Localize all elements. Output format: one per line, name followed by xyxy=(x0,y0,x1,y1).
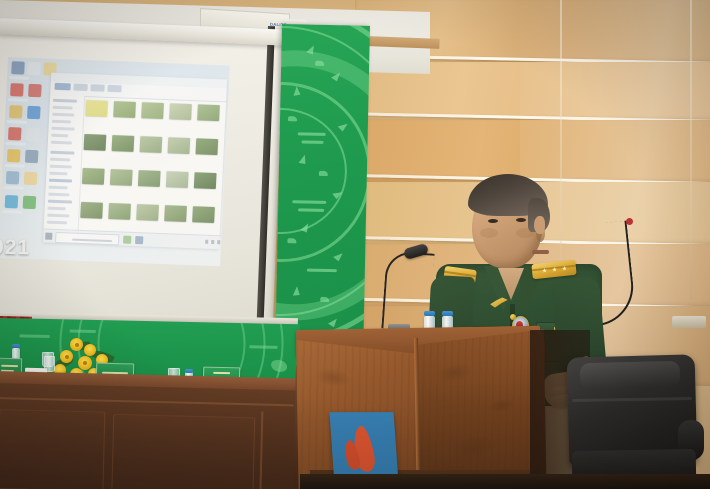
floor-shadow xyxy=(300,474,710,489)
recycle-bin-icon[interactable] xyxy=(11,61,25,74)
thumbnail-item[interactable] xyxy=(164,205,187,222)
deer-motif xyxy=(320,297,329,302)
nav-item[interactable] xyxy=(51,134,68,138)
start-button[interactable] xyxy=(45,233,52,240)
mouth xyxy=(532,250,549,254)
wall-panel xyxy=(355,120,710,182)
this-pc-icon[interactable] xyxy=(27,62,41,75)
icon-label xyxy=(5,164,25,168)
nav-item[interactable] xyxy=(50,158,70,162)
thumbnail-item[interactable] xyxy=(192,206,215,223)
icon-label xyxy=(8,98,28,102)
drum-ring xyxy=(275,24,370,356)
nav-item[interactable] xyxy=(47,214,69,218)
word-icon[interactable] xyxy=(26,128,40,141)
icon-label xyxy=(6,142,26,146)
table-groove xyxy=(0,397,294,406)
ornament xyxy=(302,140,324,143)
thumbnail-item[interactable] xyxy=(82,168,105,185)
foxit-reader-icon[interactable] xyxy=(28,84,42,97)
icon-label xyxy=(2,210,22,214)
thumbnail-item[interactable] xyxy=(85,100,108,117)
thumbnail-grid[interactable] xyxy=(79,100,224,245)
skype-icon[interactable] xyxy=(5,195,19,208)
nav-item-selected[interactable] xyxy=(49,179,72,183)
thumbnail-item[interactable] xyxy=(194,172,217,189)
tray-icon[interactable] xyxy=(211,240,214,244)
icon-label xyxy=(4,186,24,190)
bird-motif xyxy=(292,286,300,296)
flower-center xyxy=(65,355,69,359)
eye xyxy=(488,219,498,223)
nav-item[interactable] xyxy=(47,221,67,225)
wood-grain xyxy=(416,329,546,489)
nav-item[interactable] xyxy=(49,172,67,176)
thumbnail-item[interactable] xyxy=(195,138,218,155)
icon-label xyxy=(9,76,29,80)
dong-son-drum-banner xyxy=(275,24,370,356)
nameplate-line xyxy=(213,372,231,374)
deer-motif xyxy=(287,238,296,243)
nav-item[interactable] xyxy=(52,120,71,124)
thumbnail-item[interactable] xyxy=(138,170,161,187)
thumbnail-item[interactable] xyxy=(113,101,136,118)
tray-icon[interactable] xyxy=(217,240,220,244)
bird-motif xyxy=(292,86,301,96)
tray-icon[interactable] xyxy=(205,240,208,244)
flower-center xyxy=(83,361,87,365)
pdf-icon[interactable] xyxy=(8,127,22,140)
chair-highlight xyxy=(580,361,681,390)
nav-item[interactable] xyxy=(50,165,72,169)
deer-motif xyxy=(315,61,324,66)
nav-item[interactable] xyxy=(52,113,74,117)
ornament xyxy=(307,269,337,273)
table-panel xyxy=(111,414,255,489)
thumbnail-item[interactable] xyxy=(80,202,103,219)
deer-motif xyxy=(319,171,328,176)
nav-item[interactable] xyxy=(48,207,66,211)
table-groove xyxy=(259,412,263,489)
ornament xyxy=(20,334,50,338)
bottle-cap xyxy=(442,311,453,316)
table-panel xyxy=(0,409,105,489)
ornament xyxy=(298,132,326,136)
thumbnail-item[interactable] xyxy=(167,137,190,154)
wall-socket-plate xyxy=(672,316,706,328)
ribbon-tab-file[interactable] xyxy=(54,83,70,91)
projected-desktop xyxy=(0,57,230,266)
media-player-icon[interactable] xyxy=(6,171,20,184)
thumbnail-item[interactable] xyxy=(84,134,107,151)
thumbnail-item[interactable] xyxy=(140,136,163,153)
antivirus-icon[interactable] xyxy=(23,196,37,209)
thumbnail-item[interactable] xyxy=(197,104,220,121)
thumbnail-item[interactable] xyxy=(166,171,189,188)
thumbnail-item[interactable] xyxy=(108,203,131,220)
nav-item[interactable] xyxy=(50,151,74,155)
banner-year-text: 021 xyxy=(0,236,30,261)
flower xyxy=(84,344,96,356)
thumbnail-item[interactable] xyxy=(112,135,135,152)
adobe-reader-icon[interactable] xyxy=(10,83,24,96)
bottle-cap xyxy=(12,344,20,348)
thumbnail-item[interactable] xyxy=(136,204,159,221)
bottle-cap xyxy=(185,369,193,373)
wall-seam xyxy=(690,0,692,300)
taskbar-app-icon[interactable] xyxy=(135,236,143,244)
eye xyxy=(516,218,526,222)
lectern-right-face xyxy=(416,329,546,489)
bottle-cap xyxy=(424,311,435,316)
scene-root: DALITE 021 xyxy=(0,0,710,489)
flower-center xyxy=(75,343,79,347)
nav-item[interactable] xyxy=(51,127,74,131)
nav-item[interactable] xyxy=(48,200,72,204)
teamviewer-icon[interactable] xyxy=(27,106,41,119)
ribbon-tab-view[interactable] xyxy=(107,85,121,93)
chrome-icon[interactable] xyxy=(7,149,21,162)
presidium-table-front xyxy=(0,383,306,489)
shoulder-board xyxy=(531,260,576,280)
navigation-pane[interactable] xyxy=(43,95,85,244)
icon-label xyxy=(7,120,27,124)
thumbnail-item[interactable] xyxy=(141,102,164,119)
cheek-shadow xyxy=(480,228,498,238)
ornament xyxy=(70,329,96,333)
ear xyxy=(534,216,545,234)
thumbnail-item[interactable] xyxy=(169,103,192,120)
bird-motif xyxy=(299,154,307,164)
settings-icon[interactable] xyxy=(25,150,39,163)
ornament xyxy=(298,208,324,212)
nav-item[interactable] xyxy=(53,106,73,110)
nav-item[interactable] xyxy=(49,186,68,190)
drinking-glass xyxy=(44,356,55,372)
nav-item[interactable] xyxy=(48,193,69,197)
folder-2-icon[interactable] xyxy=(24,172,38,185)
nameplate-line xyxy=(1,365,18,367)
ribbon-tab-home[interactable] xyxy=(73,84,87,92)
ribbon-tab-share[interactable] xyxy=(90,84,104,92)
taskbar-app-icon[interactable] xyxy=(123,235,131,243)
ornament xyxy=(249,345,277,349)
unikey-icon[interactable] xyxy=(9,105,23,118)
file-explorer-window[interactable] xyxy=(43,73,227,250)
cable-connector xyxy=(626,218,633,225)
search-placeholder-text xyxy=(72,238,112,242)
nav-item[interactable] xyxy=(53,99,77,103)
thumbnail-item[interactable] xyxy=(110,169,133,186)
nav-item[interactable] xyxy=(51,141,72,145)
deer-motif xyxy=(288,116,297,121)
